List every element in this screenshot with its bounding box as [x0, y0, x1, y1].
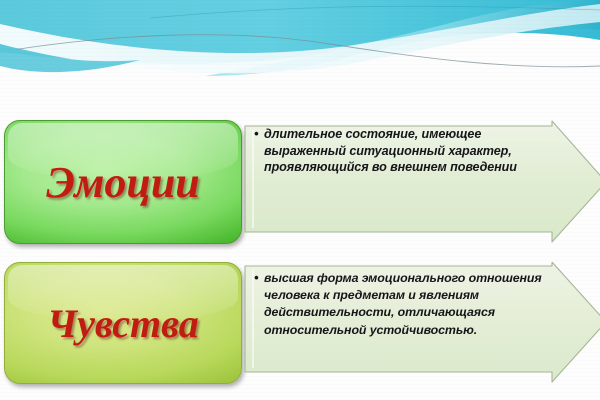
concept-label-text-feelings: Чувства: [47, 300, 198, 347]
slide-canvas: Эмоции • длительное состояние, имеющее в…: [0, 0, 600, 400]
concept-label-text-emotions: Эмоции: [46, 157, 200, 208]
wave-outline-curve: [0, 35, 600, 67]
definition-body-feelings: высшая форма эмоционального отношения че…: [264, 270, 554, 339]
wave-outline-curve-top: [150, 6, 600, 18]
wave-shape-secondary: [205, 0, 600, 76]
wave-shape-left-wedge: [0, 44, 140, 72]
concept-label-box-emotions[interactable]: Эмоции: [4, 120, 242, 244]
definition-text-emotions: • длительное состояние, имеющее выраженн…: [254, 126, 546, 176]
wave-banner-svg: [0, 0, 600, 130]
definition-text-feelings: • высшая форма эмоционального отношения …: [254, 270, 554, 339]
concept-row-feelings: Чувства • высшая форма эмоционального от…: [0, 260, 600, 390]
wave-shape-primary: [0, 0, 600, 64]
bullet-icon: •: [254, 126, 264, 143]
bullet-icon: •: [254, 270, 264, 287]
concept-label-box-feelings[interactable]: Чувства: [4, 262, 242, 384]
definition-body-emotions: длительное состояние, имеющее выраженный…: [264, 126, 546, 176]
wave-banner-decoration: [0, 0, 600, 130]
concept-row-emotions: Эмоции • длительное состояние, имеющее в…: [0, 118, 600, 246]
wave-shape-highlight: [0, 4, 600, 73]
definition-arrow-feelings[interactable]: • высшая форма эмоционального отношения …: [244, 262, 600, 386]
definition-arrow-emotions[interactable]: • длительное состояние, имеющее выраженн…: [244, 120, 600, 244]
